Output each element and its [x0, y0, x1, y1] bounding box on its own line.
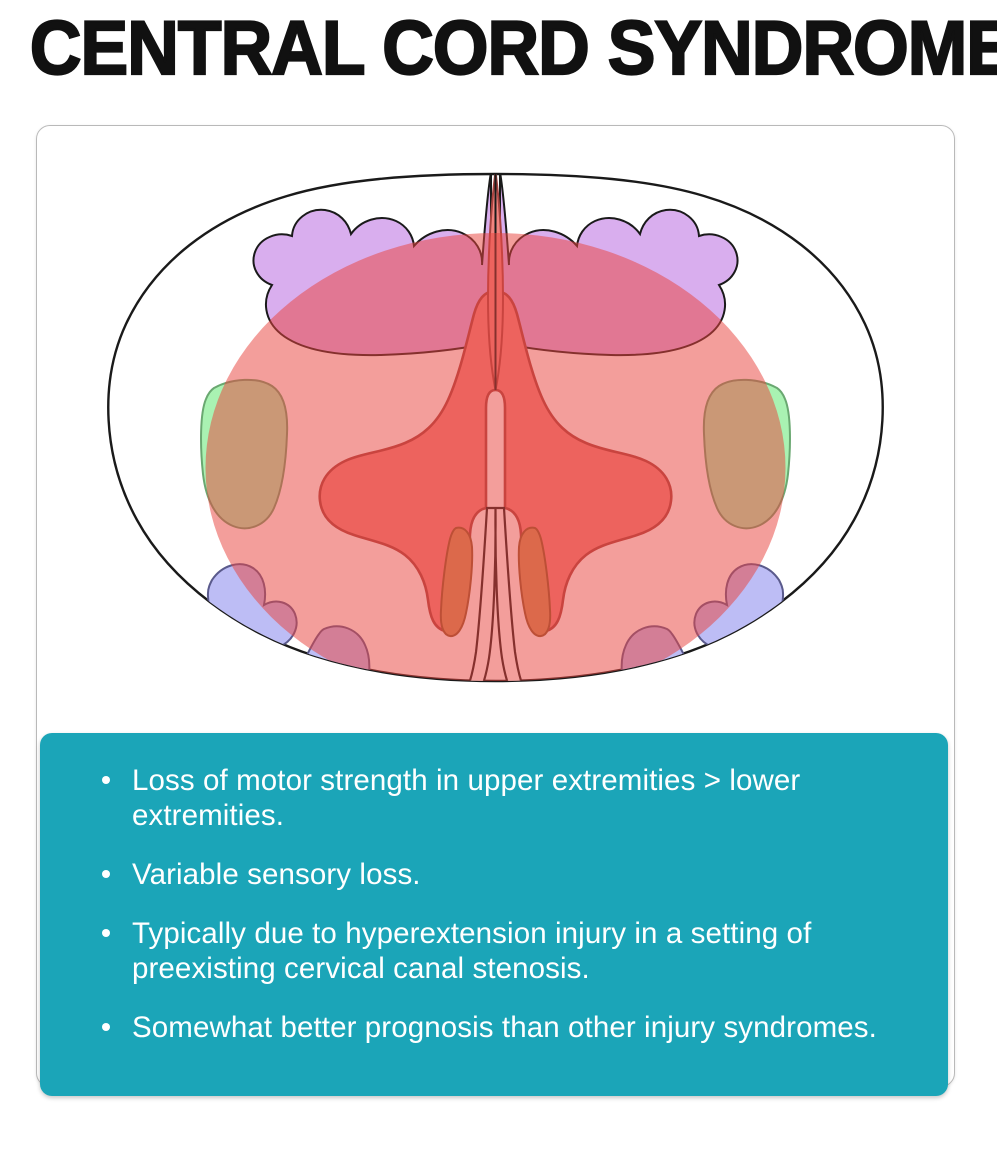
list-item: Somewhat better prognosis than other inj… — [96, 1010, 906, 1045]
bullet-text: Typically due to hyperextension injury i… — [132, 917, 811, 985]
lesion-ellipse — [206, 233, 786, 703]
bullet-list: Loss of motor strength in upper extremit… — [96, 763, 906, 1045]
bullet-dot-icon — [102, 870, 110, 878]
bullet-dot-icon — [102, 929, 110, 937]
page-title: CENTRAL CORD SYNDROME — [30, 6, 967, 92]
bullet-text: Loss of motor strength in upper extremit… — [132, 764, 800, 832]
list-item: Variable sensory loss. — [96, 857, 906, 892]
bullet-dot-icon — [102, 1023, 110, 1031]
key-features-panel: Loss of motor strength in upper extremit… — [40, 733, 948, 1096]
spinal-cord-diagram — [36, 128, 955, 728]
bullet-dot-icon — [102, 776, 110, 784]
spinal-cord-svg — [36, 128, 955, 728]
bullet-text: Somewhat better prognosis than other inj… — [132, 1011, 877, 1044]
bullet-text: Variable sensory loss. — [132, 858, 421, 891]
list-item: Typically due to hyperextension injury i… — [96, 916, 906, 986]
list-item: Loss of motor strength in upper extremit… — [96, 763, 906, 833]
central-lesion — [206, 233, 786, 703]
